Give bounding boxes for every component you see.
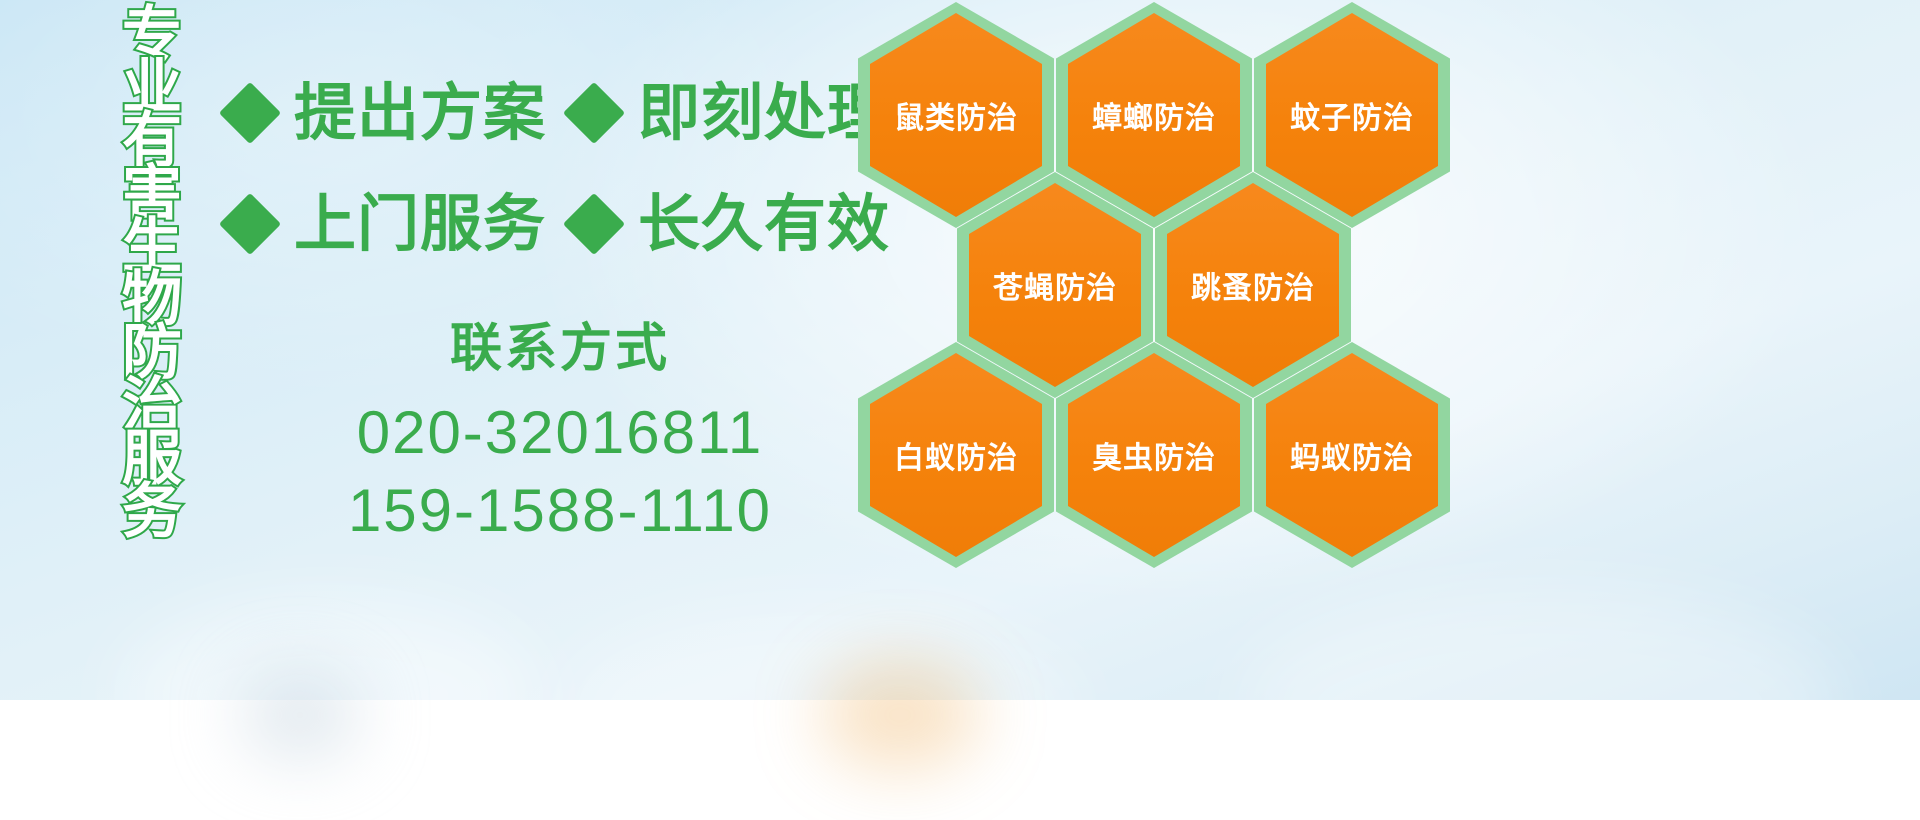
background-haze — [820, 660, 980, 770]
contact-phone-landline[interactable]: 020-32016811 — [300, 394, 820, 472]
diamond-bullet-icon — [563, 193, 625, 255]
contact-title: 联系方式 — [300, 318, 820, 380]
service-label: 蚂蚁防治 — [1254, 342, 1450, 568]
contact-phone-mobile[interactable]: 159-1588-1110 — [300, 472, 820, 550]
banner-canvas: 专 业 有 害 生 物 防 治 服 务 提出方案 即刻处理 上门服务 长久有效 — [0, 0, 1920, 700]
service-hex-bedbug[interactable]: 臭虫防治 — [1056, 342, 1252, 568]
diamond-bullet-icon — [563, 82, 625, 144]
service-hex-termite[interactable]: 白蚁防治 — [858, 342, 1054, 568]
feature-item-propose-plan: 提出方案 — [228, 82, 546, 144]
vertical-headline: 专 业 有 害 生 物 防 治 服 务 — [104, 8, 200, 568]
background-haze — [560, 610, 1080, 810]
feature-label: 上门服务 — [294, 193, 546, 255]
service-label: 白蚁防治 — [858, 342, 1054, 568]
feature-label: 提出方案 — [294, 82, 546, 144]
feature-row-2: 上门服务 长久有效 — [228, 193, 890, 255]
diamond-bullet-icon — [219, 193, 281, 255]
background-haze — [240, 670, 360, 760]
feature-item-long-lasting: 长久有效 — [572, 193, 890, 255]
feature-row-1: 提出方案 即刻处理 — [228, 82, 890, 144]
service-label: 臭虫防治 — [1056, 342, 1252, 568]
vertical-headline-char: 务 — [122, 485, 182, 540]
feature-item-immediate-handling: 即刻处理 — [572, 82, 890, 144]
background-haze — [120, 600, 540, 790]
feature-item-onsite-service: 上门服务 — [228, 193, 546, 255]
diamond-bullet-icon — [219, 82, 281, 144]
service-honeycomb-grid: 鼠类防治 蟑螂防治 蚊子防治 苍蝇防治 跳蚤防治 白蚁防治 — [852, 0, 1452, 554]
service-hex-ant[interactable]: 蚂蚁防治 — [1254, 342, 1450, 568]
contact-block: 联系方式 020-32016811 159-1588-1110 — [300, 318, 820, 550]
background-haze — [1240, 590, 1840, 820]
